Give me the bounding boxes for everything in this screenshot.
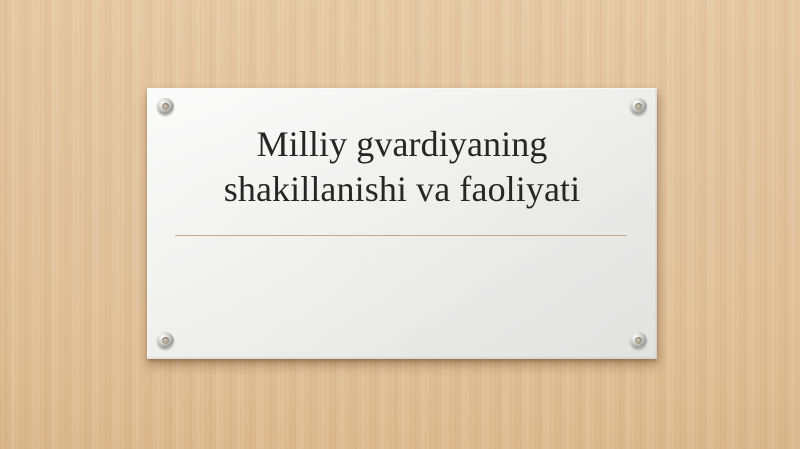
screw-icon-top-right xyxy=(630,98,647,115)
screw-icon-bottom-left xyxy=(157,332,174,349)
slide-title-line-2: shakillanishi va faoliyati xyxy=(165,167,639,212)
title-underline-rule xyxy=(175,235,627,236)
slide-title-line-1: Milliy gvardiyaning xyxy=(165,122,639,167)
screw-icon-bottom-right xyxy=(630,332,647,349)
title-plaque-panel: Milliy gvardiyaning shakillanishi va fao… xyxy=(147,88,657,359)
slide-canvas: Milliy gvardiyaning shakillanishi va fao… xyxy=(0,0,800,449)
slide-title[interactable]: Milliy gvardiyaning shakillanishi va fao… xyxy=(147,122,657,212)
screw-icon-top-left xyxy=(157,98,174,115)
